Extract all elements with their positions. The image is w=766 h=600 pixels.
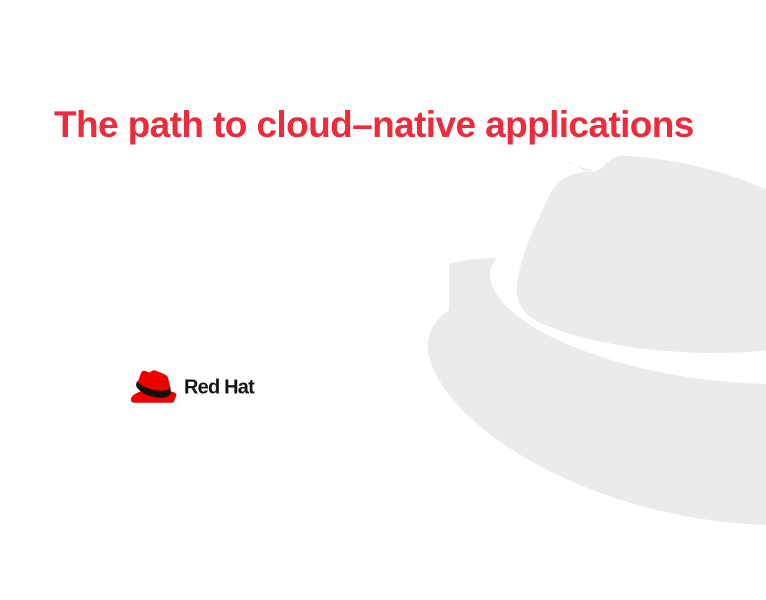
red-hat-wordmark: Red Hat (184, 375, 268, 399)
red-hat-wordmark-text: Red Hat (184, 377, 255, 399)
watermark-brim (428, 258, 766, 525)
red-hat-fedora-watermark-icon (0, 0, 766, 600)
watermark-crown (517, 156, 766, 353)
red-hat-logo: Red Hat (131, 369, 268, 405)
red-hat-fedora-icon (131, 370, 177, 404)
watermark-shapes (428, 156, 766, 525)
page-title: The path to cloud–native applications (54, 103, 734, 147)
title-slide: The path to cloud–native applications Re… (0, 0, 766, 600)
